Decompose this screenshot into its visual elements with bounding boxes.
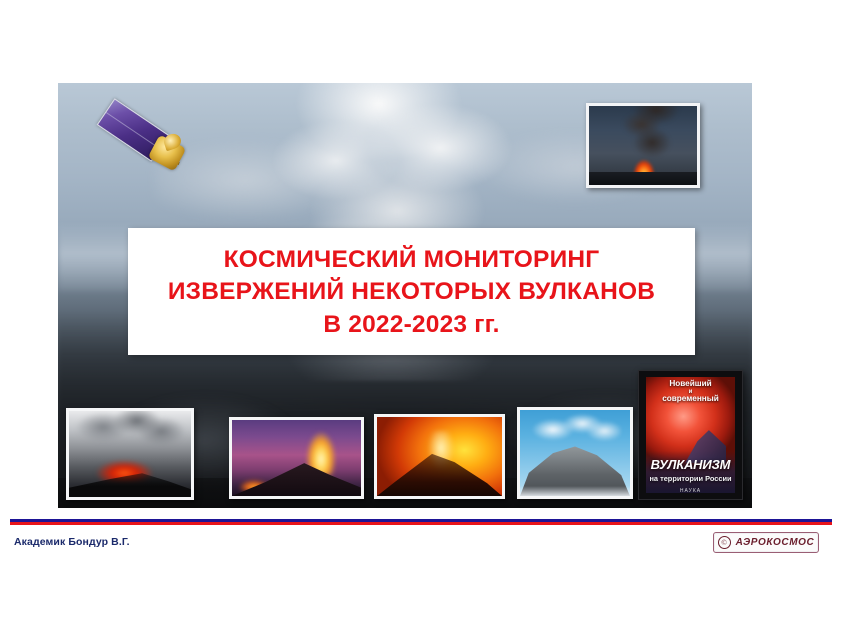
book-cover: Новейший и современный ВУЛКАНИЗМ на терр…	[638, 370, 743, 500]
copyright-icon: ©	[718, 536, 731, 549]
title-line-3: В 2022-2023 гг.	[323, 309, 499, 341]
divider-red-line	[10, 522, 832, 525]
thumb4-cloud	[529, 412, 621, 446]
presentation-slide: КОСМИЧЕСКИЙ МОНИТОРИНГ ИЗВЕРЖЕНИЙ НЕКОТО…	[0, 0, 842, 633]
title-line-2: ИЗВЕРЖЕНИЙ НЕКОТОРЫХ ВУЛКАНОВ	[168, 276, 655, 308]
book-main-title: ВУЛКАНИЗМ	[639, 457, 742, 472]
book-top-line-1: Новейший	[639, 380, 742, 389]
inset-ridge	[589, 172, 697, 185]
logo-text: АЭРОКОСМОС	[736, 537, 815, 548]
thumbnail-violet-night-eruption	[229, 417, 364, 499]
thumb4-snow-field	[520, 486, 630, 496]
satellite-icon	[98, 104, 194, 180]
slide-title-box: КОСМИЧЕСКИЙ МОНИТОРИНГ ИЗВЕРЖЕНИЙ НЕКОТО…	[128, 228, 695, 355]
footer-divider	[10, 519, 832, 525]
aerocosmos-logo[interactable]: © АЭРОКОСМОС	[713, 532, 819, 553]
book-publisher: НАУКА	[639, 488, 742, 494]
thumbnail-snow-capped-volcano	[517, 407, 633, 499]
book-subtitle: на территории России	[639, 474, 742, 483]
title-line-1: КОСМИЧЕСКИЙ МОНИТОРИНГ	[224, 244, 600, 276]
book-top-lines: Новейший и современный	[639, 380, 742, 404]
footer-author-label: Академик Бондур В.Г.	[14, 536, 130, 548]
thumbnail-ash-cloud-red-glow	[66, 408, 194, 500]
book-top-line-3: современный	[639, 395, 742, 404]
thumbnail-orange-lava-cone	[374, 414, 505, 499]
inset-eruption-night-photo	[586, 103, 700, 188]
